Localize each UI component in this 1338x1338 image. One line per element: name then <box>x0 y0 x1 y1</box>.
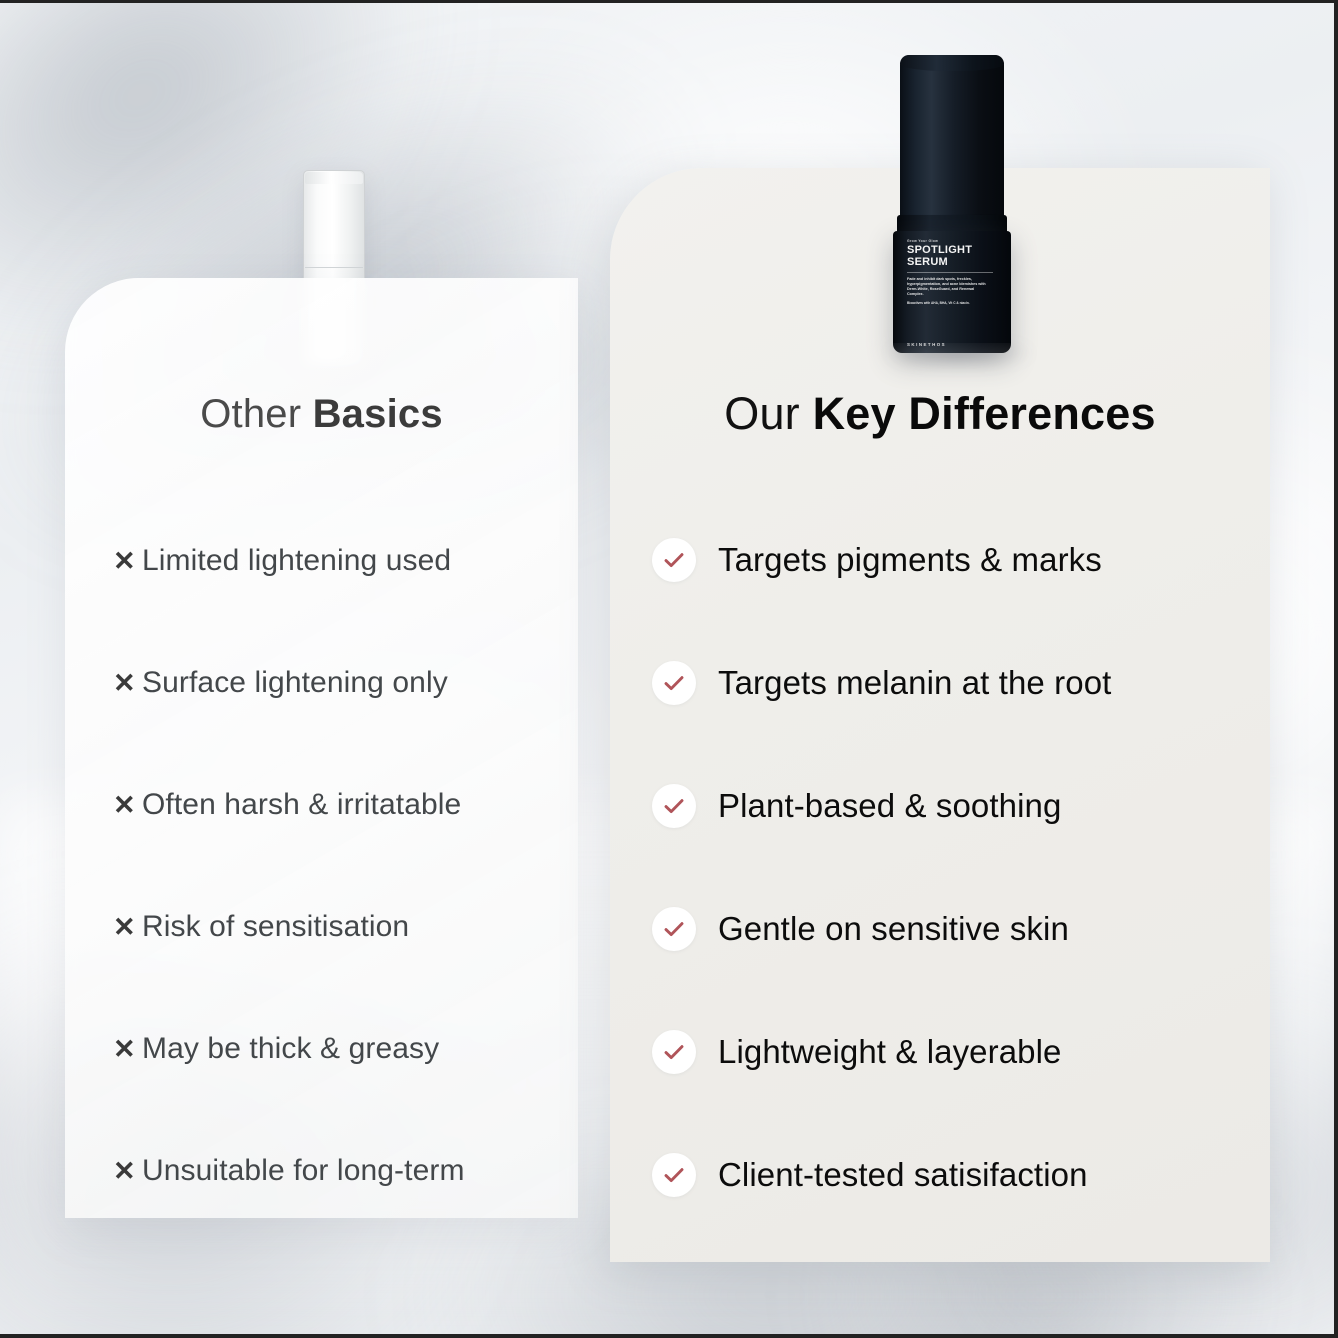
plain-bottle-seam <box>305 267 363 268</box>
list-item-label: Often harsh & irritatable <box>142 788 461 822</box>
frame-edge-bottom <box>0 1334 1338 1338</box>
check-mark-icon <box>652 907 696 951</box>
list-item-label: Targets melanin at the root <box>718 664 1111 702</box>
ours-heading-prefix: Our <box>724 388 800 439</box>
other-basics-heading: Other Basics <box>65 392 578 437</box>
other-heading-strong: Basics <box>313 392 443 436</box>
list-item: ✕ Often harsh & irritatable <box>113 744 583 866</box>
list-item: Gentle on sensitive skin <box>652 867 1252 990</box>
x-mark-icon: ✕ <box>113 670 135 697</box>
list-item: ✕ Surface lightening only <box>113 622 583 744</box>
product-name-line2: SERUM <box>907 256 948 268</box>
product-bottle-body: Grow Your Glow SPOTLIGHT SERUM Fade and … <box>893 231 1011 353</box>
x-mark-icon: ✕ <box>113 792 135 819</box>
check-mark-icon <box>652 784 696 828</box>
product-bottle-image: Grow Your Glow SPOTLIGHT SERUM Fade and … <box>893 55 1011 355</box>
x-mark-icon: ✕ <box>113 914 135 941</box>
list-item-label: Gentle on sensitive skin <box>718 910 1069 948</box>
list-item-label: Unsuitable for long-term <box>142 1154 465 1188</box>
list-item-label: Lightweight & layerable <box>718 1033 1062 1071</box>
key-differences-list: Targets pigments & marks Targets melanin… <box>652 498 1252 1236</box>
check-mark-icon <box>652 1030 696 1074</box>
x-mark-icon: ✕ <box>113 1158 135 1185</box>
check-mark-icon <box>652 661 696 705</box>
list-item: ✕ Limited lightening used <box>113 500 583 622</box>
list-item: ✕ Unsuitable for long-term <box>113 1110 583 1232</box>
product-label-divider <box>907 272 993 273</box>
list-item-label: May be thick & greasy <box>142 1032 439 1066</box>
frame-edge-right <box>1334 0 1338 1338</box>
product-bottle-label: Grow Your Glow SPOTLIGHT SERUM Fade and … <box>907 239 1001 305</box>
plain-bottle-cap <box>305 172 363 184</box>
other-basics-list: ✕ Limited lightening used ✕ Surface ligh… <box>113 500 583 1232</box>
product-tagline: Grow Your Glow <box>907 239 1001 243</box>
list-item: ✕ Risk of sensitisation <box>113 866 583 988</box>
other-heading-prefix: Other <box>200 392 301 436</box>
list-item-label: Limited lightening used <box>142 544 451 578</box>
list-item: Targets pigments & marks <box>652 498 1252 621</box>
ours-heading-strong: Key Differences <box>813 388 1156 439</box>
list-item-label: Plant-based & soothing <box>718 787 1061 825</box>
list-item-label: Risk of sensitisation <box>142 910 409 944</box>
key-differences-heading: Our Key Differences <box>610 388 1270 440</box>
list-item-label: Targets pigments & marks <box>718 541 1102 579</box>
list-item: Client-tested satisifaction <box>652 1113 1252 1236</box>
product-actives: Bioactives with AHA, BHA, Vit C & niacin… <box>907 301 1001 305</box>
x-mark-icon: ✕ <box>113 1036 135 1063</box>
x-mark-icon: ✕ <box>113 548 135 575</box>
check-mark-icon <box>652 1153 696 1197</box>
list-item-label: Client-tested satisifaction <box>718 1156 1088 1194</box>
list-item-label: Surface lightening only <box>142 666 448 700</box>
frame-edge-top <box>0 0 1338 3</box>
product-brand: SKINETHOS <box>907 342 946 347</box>
poster-canvas: Grow Your Glow SPOTLIGHT SERUM Fade and … <box>0 0 1338 1338</box>
check-mark-icon <box>652 538 696 582</box>
list-item: Plant-based & soothing <box>652 744 1252 867</box>
list-item: Targets melanin at the root <box>652 621 1252 744</box>
product-name-line1: SPOTLIGHT <box>907 244 972 256</box>
product-description: Fade and inhibit dark spots, freckles, h… <box>907 277 989 298</box>
list-item: ✕ May be thick & greasy <box>113 988 583 1110</box>
product-bottle-cap <box>900 55 1004 223</box>
list-item: Lightweight & layerable <box>652 990 1252 1113</box>
